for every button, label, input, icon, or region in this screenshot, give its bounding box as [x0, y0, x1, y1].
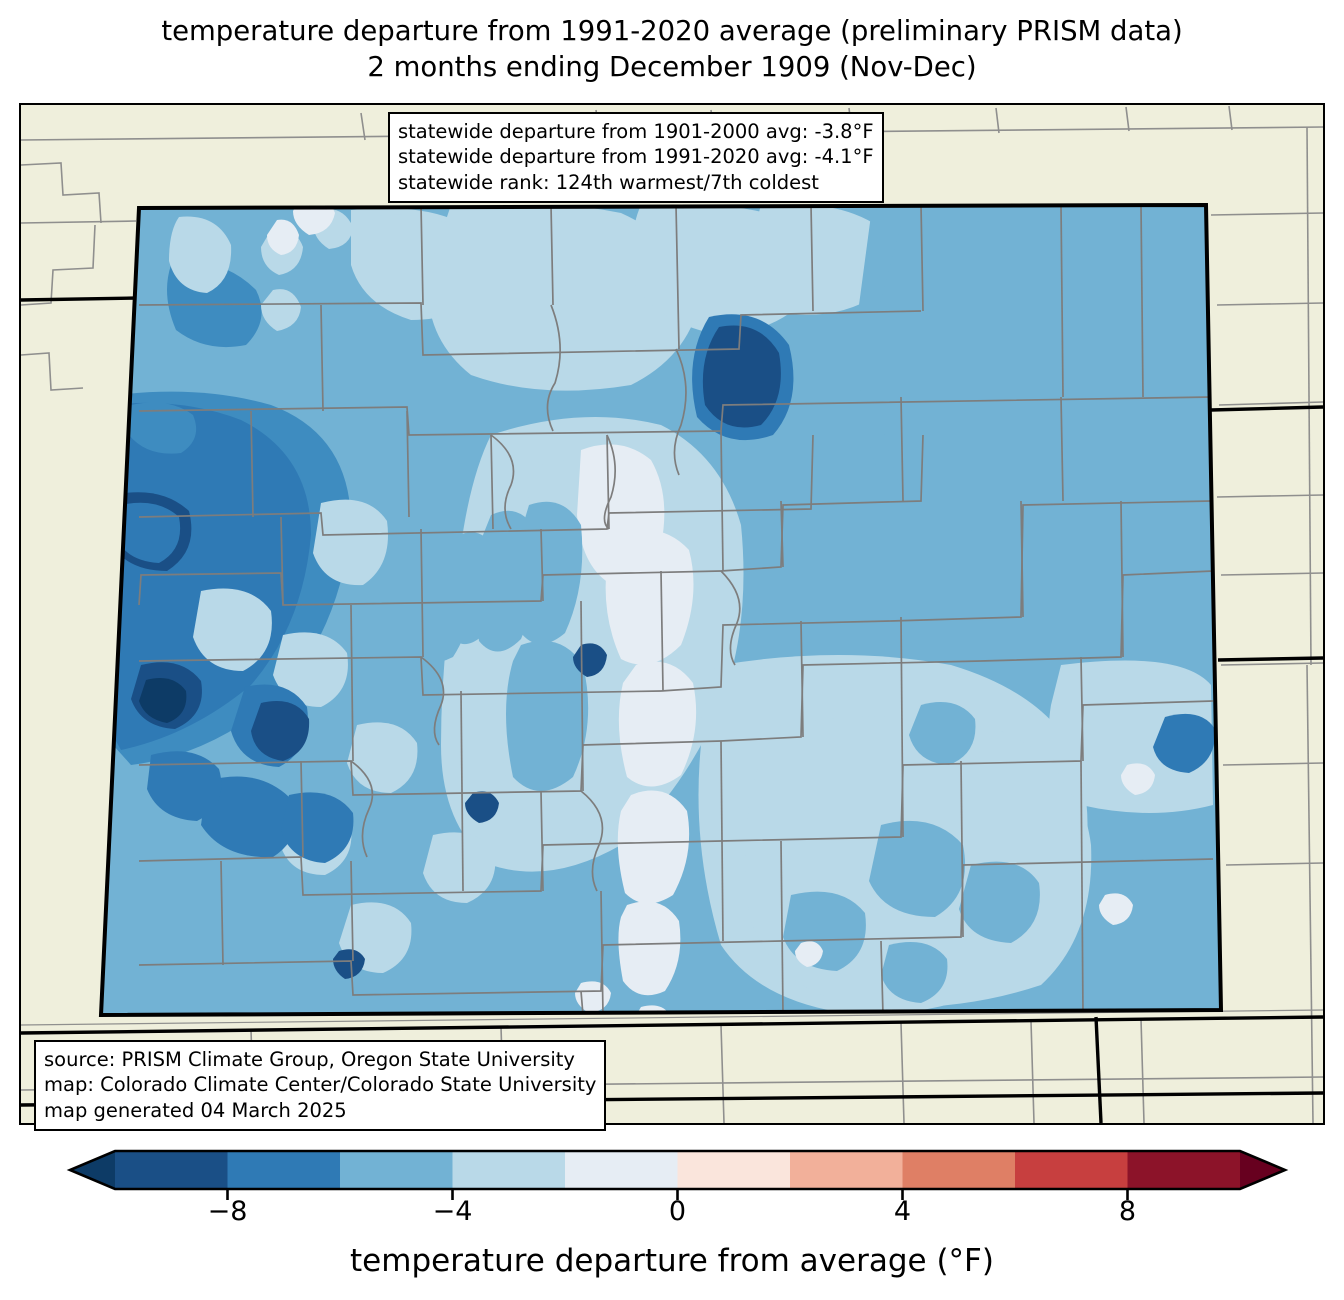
colorbar-band-5	[678, 1151, 791, 1189]
colorbar-band-2	[340, 1151, 453, 1189]
colorbar-band-0	[115, 1151, 228, 1189]
colorbar-tick-label: 0	[669, 1196, 686, 1227]
title-line-1: temperature departure from 1991-2020 ave…	[0, 14, 1344, 50]
colorbar-band-6	[790, 1151, 903, 1189]
stats-line-2: statewide departure from 1991-2020 avg: …	[398, 144, 874, 169]
colorbar-band-8	[1015, 1151, 1128, 1189]
colorbar-extend-min	[70, 1151, 115, 1189]
colorbar-tick-label: 4	[894, 1196, 911, 1227]
source-line-3: map generated 04 March 2025	[44, 1098, 596, 1123]
colorbar-tick-label: −8	[208, 1196, 248, 1227]
colorbar-axis-label: temperature departure from average (°F)	[0, 1243, 1344, 1279]
map-plot-area	[19, 103, 1325, 1125]
stats-line-1: statewide departure from 1901-2000 avg: …	[398, 119, 874, 144]
colorado-temperature-departure-map	[21, 105, 1323, 1123]
statewide-stats-box: statewide departure from 1901-2000 avg: …	[388, 112, 884, 203]
colorbar-tick-label: −4	[433, 1196, 473, 1227]
title-line-2: 2 months ending December 1909 (Nov-Dec)	[0, 50, 1344, 86]
colorbar-band-7	[903, 1151, 1016, 1189]
source-line-2: map: Colorado Climate Center/Colorado St…	[44, 1072, 596, 1097]
colorbar-tick-label: 8	[1119, 1196, 1136, 1227]
colorbar-tick-labels: −8−4048	[0, 1196, 1344, 1236]
source-attribution-box: source: PRISM Climate Group, Oregon Stat…	[34, 1040, 606, 1131]
source-line-1: source: PRISM Climate Group, Oregon Stat…	[44, 1047, 596, 1072]
colorbar-band-9	[1128, 1151, 1241, 1189]
stats-line-3: statewide rank: 124th warmest/7th coldes…	[398, 170, 874, 195]
colorbar-extend-max	[1240, 1151, 1285, 1189]
colorbar-band-4	[565, 1151, 678, 1189]
colorbar-band-3	[453, 1151, 566, 1189]
colorbar-band-1	[228, 1151, 341, 1189]
page-title: temperature departure from 1991-2020 ave…	[0, 14, 1344, 86]
temperature-contour-fill	[81, 185, 1261, 1109]
